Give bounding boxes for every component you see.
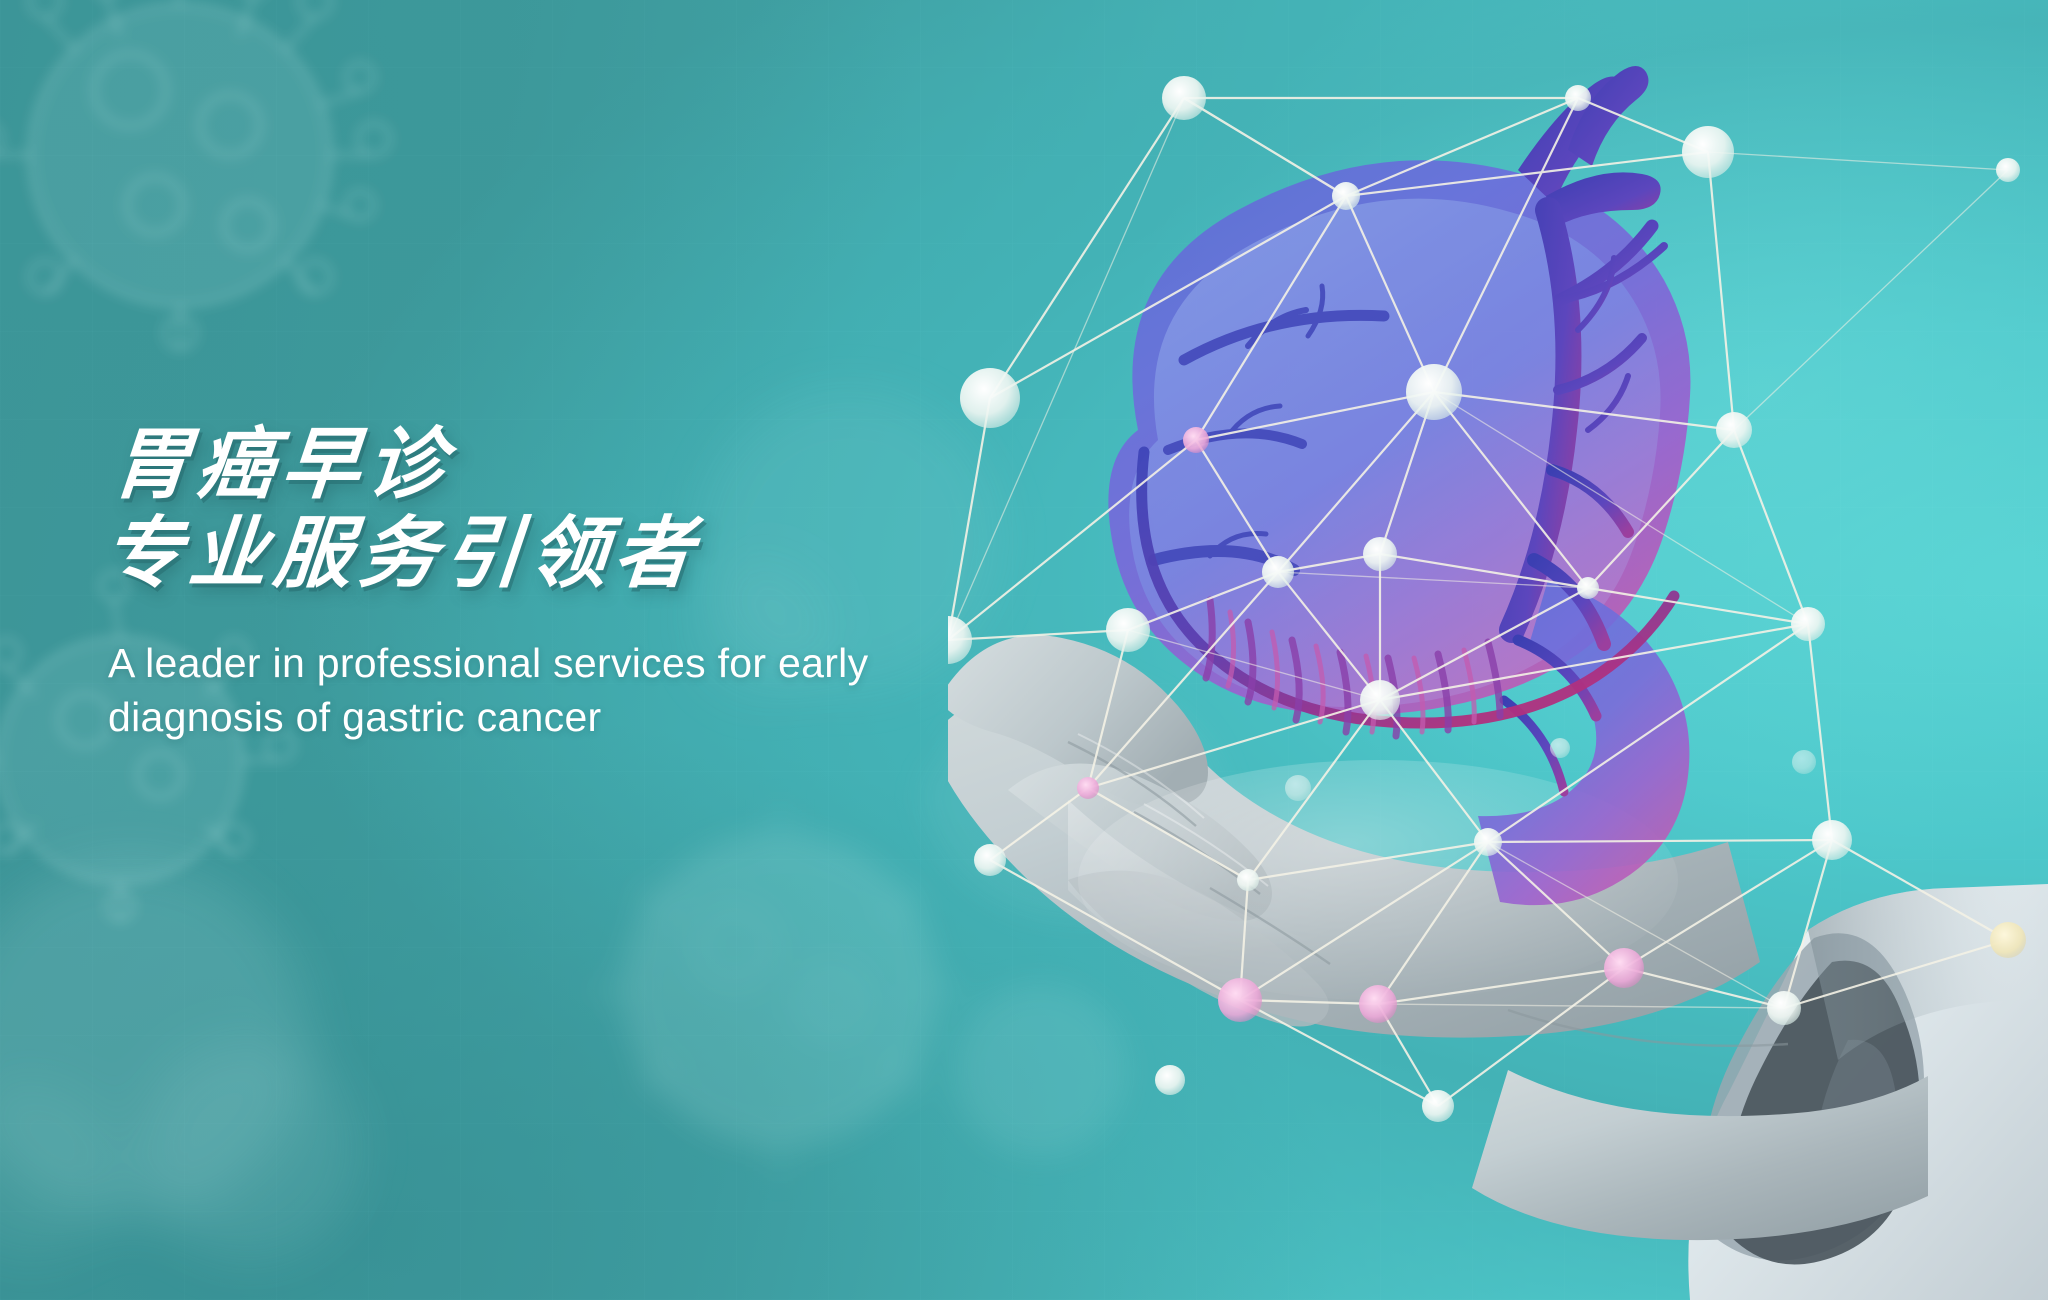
hero-copy: 胃癌早诊 专业服务引领者 A leader in professional se… <box>108 420 1168 744</box>
page-subtitle: A leader in professional services for ea… <box>108 636 1118 744</box>
subtitle-line-1: A leader in professional services for ea… <box>108 636 1118 690</box>
page-title: 胃癌早诊 专业服务引领者 <box>100 420 1176 598</box>
virus-icon-top-left <box>0 0 490 410</box>
headline-line-1: 胃癌早诊 <box>108 420 1176 509</box>
virus-blob-bottom-left <box>0 790 440 1300</box>
banner-hero: 胃癌早诊 专业服务引领者 A leader in professional se… <box>0 0 2048 1300</box>
subtitle-line-2: diagnosis of gastric cancer <box>108 690 1118 744</box>
headline-line-2: 专业服务引领者 <box>100 509 1168 598</box>
